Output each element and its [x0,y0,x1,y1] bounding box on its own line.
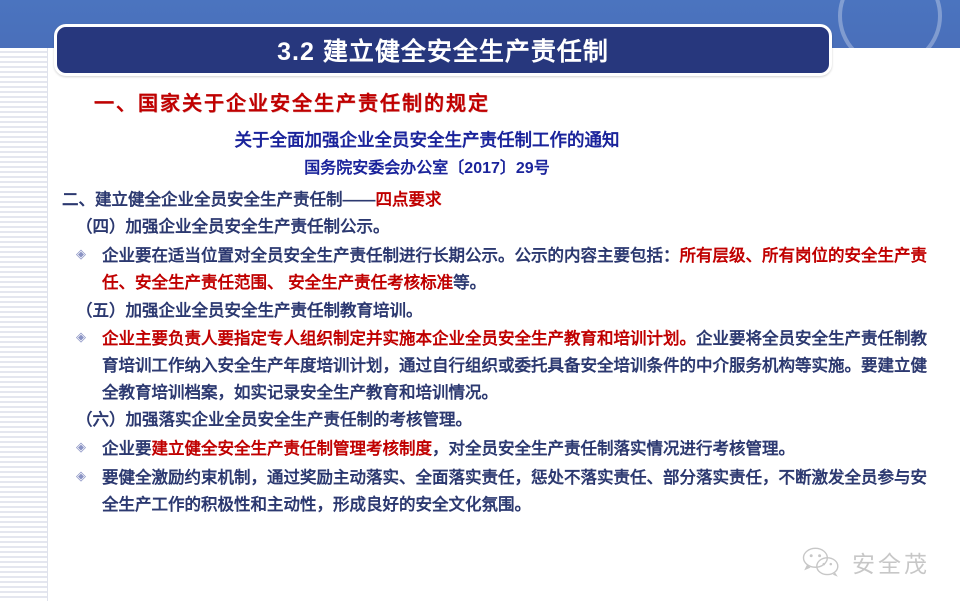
bullet-text: 要健全激励约束机制，通过奖励主动落实、全面落实责任，惩处不落实责任、部分落实责任… [102,465,942,518]
requirement-heading: （五）加强企业全员安全生产责任制教育培训。 [76,298,942,325]
diamond-bullet-icon: ◈ [76,326,102,343]
left-stripe-decor [0,48,48,601]
bullet-item: ◈要健全激励约束机制，通过奖励主动落实、全面落实责任，惩处不落实责任、部分落实责… [62,465,942,518]
bullet-text-run: 企业主要负责人要指定专人组织制定并实施本企业全员安全生产教育和培训计划。 [102,330,696,348]
diamond-bullet-icon: ◈ [76,465,102,482]
section-heading-two: 二、建立健全企业全员安全生产责任制——四点要求 [62,187,942,214]
requirement-items: （四）加强企业全员安全生产责任制公示。◈企业要在适当位置对全员安全生产责任制进行… [62,214,942,518]
slide-title-bar: 3.2 建立健全安全生产责任制 [54,24,832,76]
bullet-text-run: ，对全员安全生产责任制落实情况进行考核管理。 [432,440,795,458]
bullet-text-run: 等。 [453,274,486,292]
section-two-emphasis: 四点要求 [376,191,442,209]
diamond-bullet-icon: ◈ [76,436,102,453]
notice-subtitle: 关于全面加强企业全员安全生产责任制工作的通知 [62,126,942,154]
watermark: 安全茂 [800,545,930,579]
bullet-text-run: 企业要在适当位置对全员安全生产责任制进行长期公示。公示的内容主要包括： [102,247,680,265]
bullet-item: ◈企业要建立健全安全生产责任制管理考核制度，对全员安全生产责任制落实情况进行考核… [62,436,942,463]
bullet-text: 企业主要负责人要指定专人组织制定并实施本企业全员安全生产教育和培训计划。企业要将… [102,326,942,406]
bullet-text-run: 建立健全安全生产责任制管理考核制度 [152,440,433,458]
slide-content: 一、国家关于企业安全生产责任制的规定 关于全面加强企业全员安全生产责任制工作的通… [62,88,942,518]
bullet-item: ◈企业主要负责人要指定专人组织制定并实施本企业全员安全生产教育和培训计划。企业要… [62,326,942,406]
notice-document-number: 国务院安委会办公室〔2017〕29号 [62,156,942,182]
bullet-text-run: 企业要 [102,440,152,458]
requirement-heading: （六）加强落实企业全员安全生产责任制的考核管理。 [76,407,942,434]
wechat-icon [800,545,842,579]
requirement-heading: （四）加强企业全员安全生产责任制公示。 [76,214,942,241]
section-two-prefix: 二、建立健全企业全员安全生产责任制—— [62,191,376,209]
bullet-item: ◈企业要在适当位置对全员安全生产责任制进行长期公示。公示的内容主要包括：所有层级… [62,243,942,296]
watermark-text: 安全茂 [852,545,930,579]
section-heading-one: 一、国家关于企业安全生产责任制的规定 [94,88,942,120]
bullet-text: 企业要在适当位置对全员安全生产责任制进行长期公示。公示的内容主要包括：所有层级、… [102,243,942,296]
diamond-bullet-icon: ◈ [76,243,102,260]
bullet-text-run: 要健全激励约束机制，通过奖励主动落实、全面落实责任，惩处不落实责任、部分落实责任… [102,469,927,514]
bullet-text: 企业要建立健全安全生产责任制管理考核制度，对全员安全生产责任制落实情况进行考核管… [102,436,942,463]
page-title: 3.2 建立健全安全生产责任制 [277,32,609,68]
slide-canvas: 3.2 建立健全安全生产责任制 一、国家关于企业安全生产责任制的规定 关于全面加… [0,0,960,601]
